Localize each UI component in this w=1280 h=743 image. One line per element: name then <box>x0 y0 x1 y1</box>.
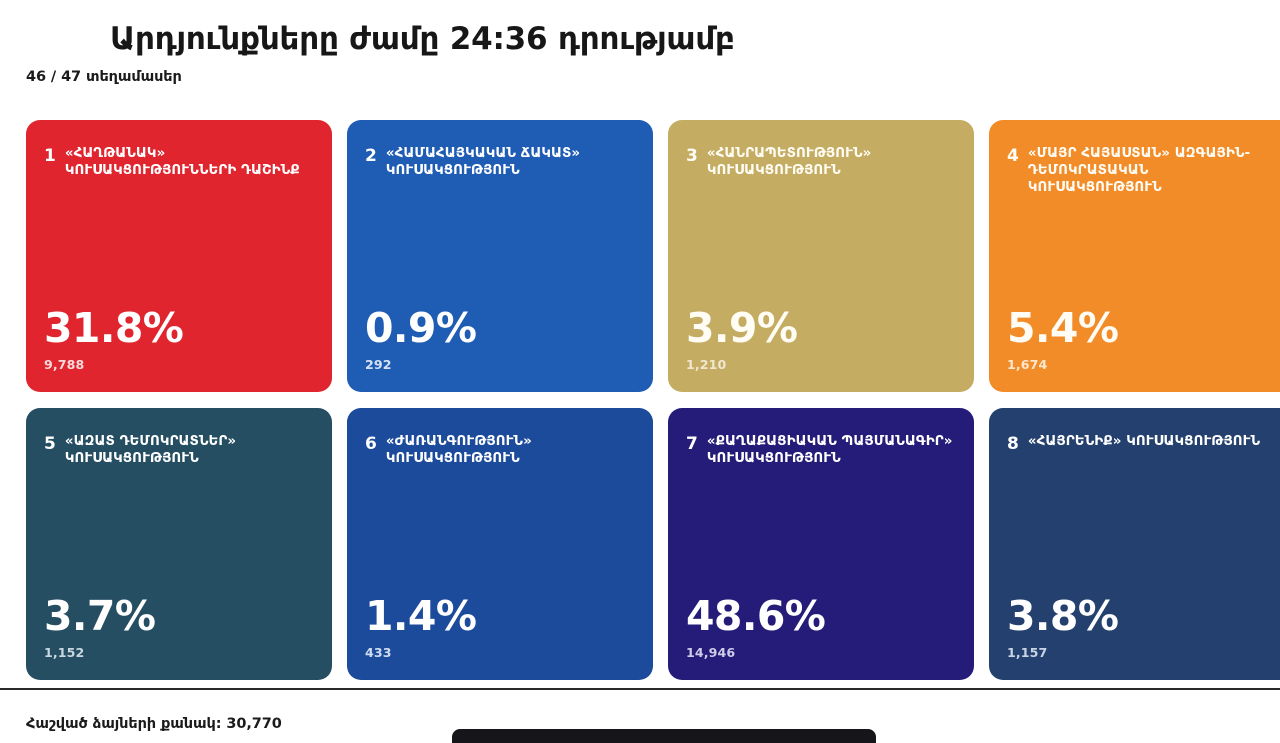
page-title: Արդյունքները ժամը 24:36 դրությամբ <box>110 22 1280 58</box>
party-vote-count: 433 <box>365 645 635 660</box>
party-card-header: 3«ՀԱՆՐԱՊԵՏՈՒԹՅՈՒՆ» ԿՈՒՍԱԿՑՈՒԹՅՈՒՆ <box>686 146 956 180</box>
party-name-label: «ՀԱՂԹԱՆԱԿ» ԿՈՒՍԱԿՑՈՒԹՅՈՒՆՆԵՐԻ ԴԱՇԻՆՔ <box>65 146 314 180</box>
party-results-grid: 1«ՀԱՂԹԱՆԱԿ» ԿՈՒՍԱԿՑՈՒԹՅՈՒՆՆԵՐԻ ԴԱՇԻՆՔ31.… <box>26 120 1280 680</box>
precinct-progress-label: 46 / 47 տեղամասեր <box>26 69 1280 85</box>
footer-divider <box>0 688 1280 690</box>
party-rank-number: 6 <box>365 434 377 454</box>
party-rank-number: 2 <box>365 146 377 166</box>
party-name-label: «ՀԱՅՐԵՆԻՔ» ԿՈՒՍԱԿՑՈՒԹՅՈՒՆ <box>1028 434 1260 451</box>
party-card-header: 4«ՄԱՅՐ ՀԱՅԱՍՏԱՆ» ԱԶԳԱՅԻՆ-ԴԵՄՈԿՐԱՏԱԿԱՆ ԿՈ… <box>1007 146 1277 197</box>
party-name-label: «ՄԱՅՐ ՀԱՅԱՍՏԱՆ» ԱԶԳԱՅԻՆ-ԴԵՄՈԿՐԱՏԱԿԱՆ ԿՈՒ… <box>1028 146 1277 197</box>
party-name-label: «ԺԱՌԱՆԳՈՒԹՅՈՒՆ» ԿՈՒՍԱԿՑՈՒԹՅՈՒՆ <box>386 434 635 468</box>
party-vote-count: 9,788 <box>44 357 314 372</box>
party-rank-number: 8 <box>1007 434 1019 454</box>
party-name-label: «ՀԱՆՐԱՊԵՏՈՒԹՅՈՒՆ» ԿՈՒՍԱԿՑՈՒԹՅՈՒՆ <box>707 146 956 180</box>
party-percent-value: 1.4% <box>365 596 635 637</box>
party-result-card[interactable]: 7«ՔԱՂԱՔԱՑԻԱԿԱՆ ՊԱՅՄԱՆԱԳԻՐ» ԿՈՒՍԱԿՑՈՒԹՅՈՒ… <box>668 408 974 680</box>
party-card-footer: 5.4%1,674 <box>1007 308 1277 372</box>
party-card-footer: 0.9%292 <box>365 308 635 372</box>
party-percent-value: 48.6% <box>686 596 956 637</box>
party-result-card[interactable]: 5«ԱԶԱՏ ԴԵՄՈԿՐԱՏՆԵՐ» ԿՈՒՍԱԿՑՈՒԹՅՈՒՆ3.7%1,… <box>26 408 332 680</box>
party-card-footer: 3.8%1,157 <box>1007 596 1277 660</box>
party-percent-value: 3.7% <box>44 596 314 637</box>
party-card-header: 7«ՔԱՂԱՔԱՑԻԱԿԱՆ ՊԱՅՄԱՆԱԳԻՐ» ԿՈՒՍԱԿՑՈՒԹՅՈՒ… <box>686 434 956 468</box>
party-name-label: «ՔԱՂԱՔԱՑԻԱԿԱՆ ՊԱՅՄԱՆԱԳԻՐ» ԿՈՒՍԱԿՑՈՒԹՅՈՒՆ <box>707 434 956 468</box>
party-rank-number: 3 <box>686 146 698 166</box>
party-card-footer: 1.4%433 <box>365 596 635 660</box>
bottom-progress-bar <box>452 729 876 743</box>
party-percent-value: 31.8% <box>44 308 314 349</box>
party-percent-value: 5.4% <box>1007 308 1277 349</box>
party-card-header: 5«ԱԶԱՏ ԴԵՄՈԿՐԱՏՆԵՐ» ԿՈՒՍԱԿՑՈՒԹՅՈՒՆ <box>44 434 314 468</box>
party-result-card[interactable]: 2«ՀԱՄԱՀԱՅԿԱԿԱՆ ՃԱԿԱՏ» ԿՈՒՍԱԿՑՈՒԹՅՈՒՆ0.9%… <box>347 120 653 392</box>
party-card-footer: 3.7%1,152 <box>44 596 314 660</box>
party-card-footer: 48.6%14,946 <box>686 596 956 660</box>
party-rank-number: 4 <box>1007 146 1019 166</box>
party-card-header: 8«ՀԱՅՐԵՆԻՔ» ԿՈՒՍԱԿՑՈՒԹՅՈՒՆ <box>1007 434 1277 454</box>
party-vote-count: 14,946 <box>686 645 956 660</box>
party-vote-count: 1,210 <box>686 357 956 372</box>
party-name-label: «ԱԶԱՏ ԴԵՄՈԿՐԱՏՆԵՐ» ԿՈՒՍԱԿՑՈՒԹՅՈՒՆ <box>65 434 314 468</box>
party-rank-number: 5 <box>44 434 56 454</box>
counted-votes-label: Հաշված ձայների քանակ: 30,770 <box>26 716 282 732</box>
page-header: Արդյունքները ժամը 24:36 դրությամբ 46 / 4… <box>0 0 1280 85</box>
party-result-card[interactable]: 6«ԺԱՌԱՆԳՈՒԹՅՈՒՆ» ԿՈՒՍԱԿՑՈՒԹՅՈՒՆ1.4%433 <box>347 408 653 680</box>
party-result-card[interactable]: 3«ՀԱՆՐԱՊԵՏՈՒԹՅՈՒՆ» ԿՈՒՍԱԿՑՈՒԹՅՈՒՆ3.9%1,2… <box>668 120 974 392</box>
party-result-card[interactable]: 1«ՀԱՂԹԱՆԱԿ» ԿՈՒՍԱԿՑՈՒԹՅՈՒՆՆԵՐԻ ԴԱՇԻՆՔ31.… <box>26 120 332 392</box>
party-percent-value: 3.8% <box>1007 596 1277 637</box>
party-percent-value: 3.9% <box>686 308 956 349</box>
party-card-header: 2«ՀԱՄԱՀԱՅԿԱԿԱՆ ՃԱԿԱՏ» ԿՈՒՍԱԿՑՈՒԹՅՈՒՆ <box>365 146 635 180</box>
party-rank-number: 1 <box>44 146 56 166</box>
party-name-label: «ՀԱՄԱՀԱՅԿԱԿԱՆ ՃԱԿԱՏ» ԿՈՒՍԱԿՑՈՒԹՅՈՒՆ <box>386 146 635 180</box>
party-vote-count: 1,674 <box>1007 357 1277 372</box>
party-rank-number: 7 <box>686 434 698 454</box>
party-percent-value: 0.9% <box>365 308 635 349</box>
party-card-header: 1«ՀԱՂԹԱՆԱԿ» ԿՈՒՍԱԿՑՈՒԹՅՈՒՆՆԵՐԻ ԴԱՇԻՆՔ <box>44 146 314 180</box>
party-card-footer: 3.9%1,210 <box>686 308 956 372</box>
party-card-footer: 31.8%9,788 <box>44 308 314 372</box>
party-vote-count: 292 <box>365 357 635 372</box>
party-vote-count: 1,157 <box>1007 645 1277 660</box>
party-vote-count: 1,152 <box>44 645 314 660</box>
results-page: Արդյունքները ժամը 24:36 դրությամբ 46 / 4… <box>0 0 1280 740</box>
party-result-card[interactable]: 8«ՀԱՅՐԵՆԻՔ» ԿՈՒՍԱԿՑՈՒԹՅՈՒՆ3.8%1,157 <box>989 408 1280 680</box>
party-card-header: 6«ԺԱՌԱՆԳՈՒԹՅՈՒՆ» ԿՈՒՍԱԿՑՈՒԹՅՈՒՆ <box>365 434 635 468</box>
party-result-card[interactable]: 4«ՄԱՅՐ ՀԱՅԱՍՏԱՆ» ԱԶԳԱՅԻՆ-ԴԵՄՈԿՐԱՏԱԿԱՆ ԿՈ… <box>989 120 1280 392</box>
